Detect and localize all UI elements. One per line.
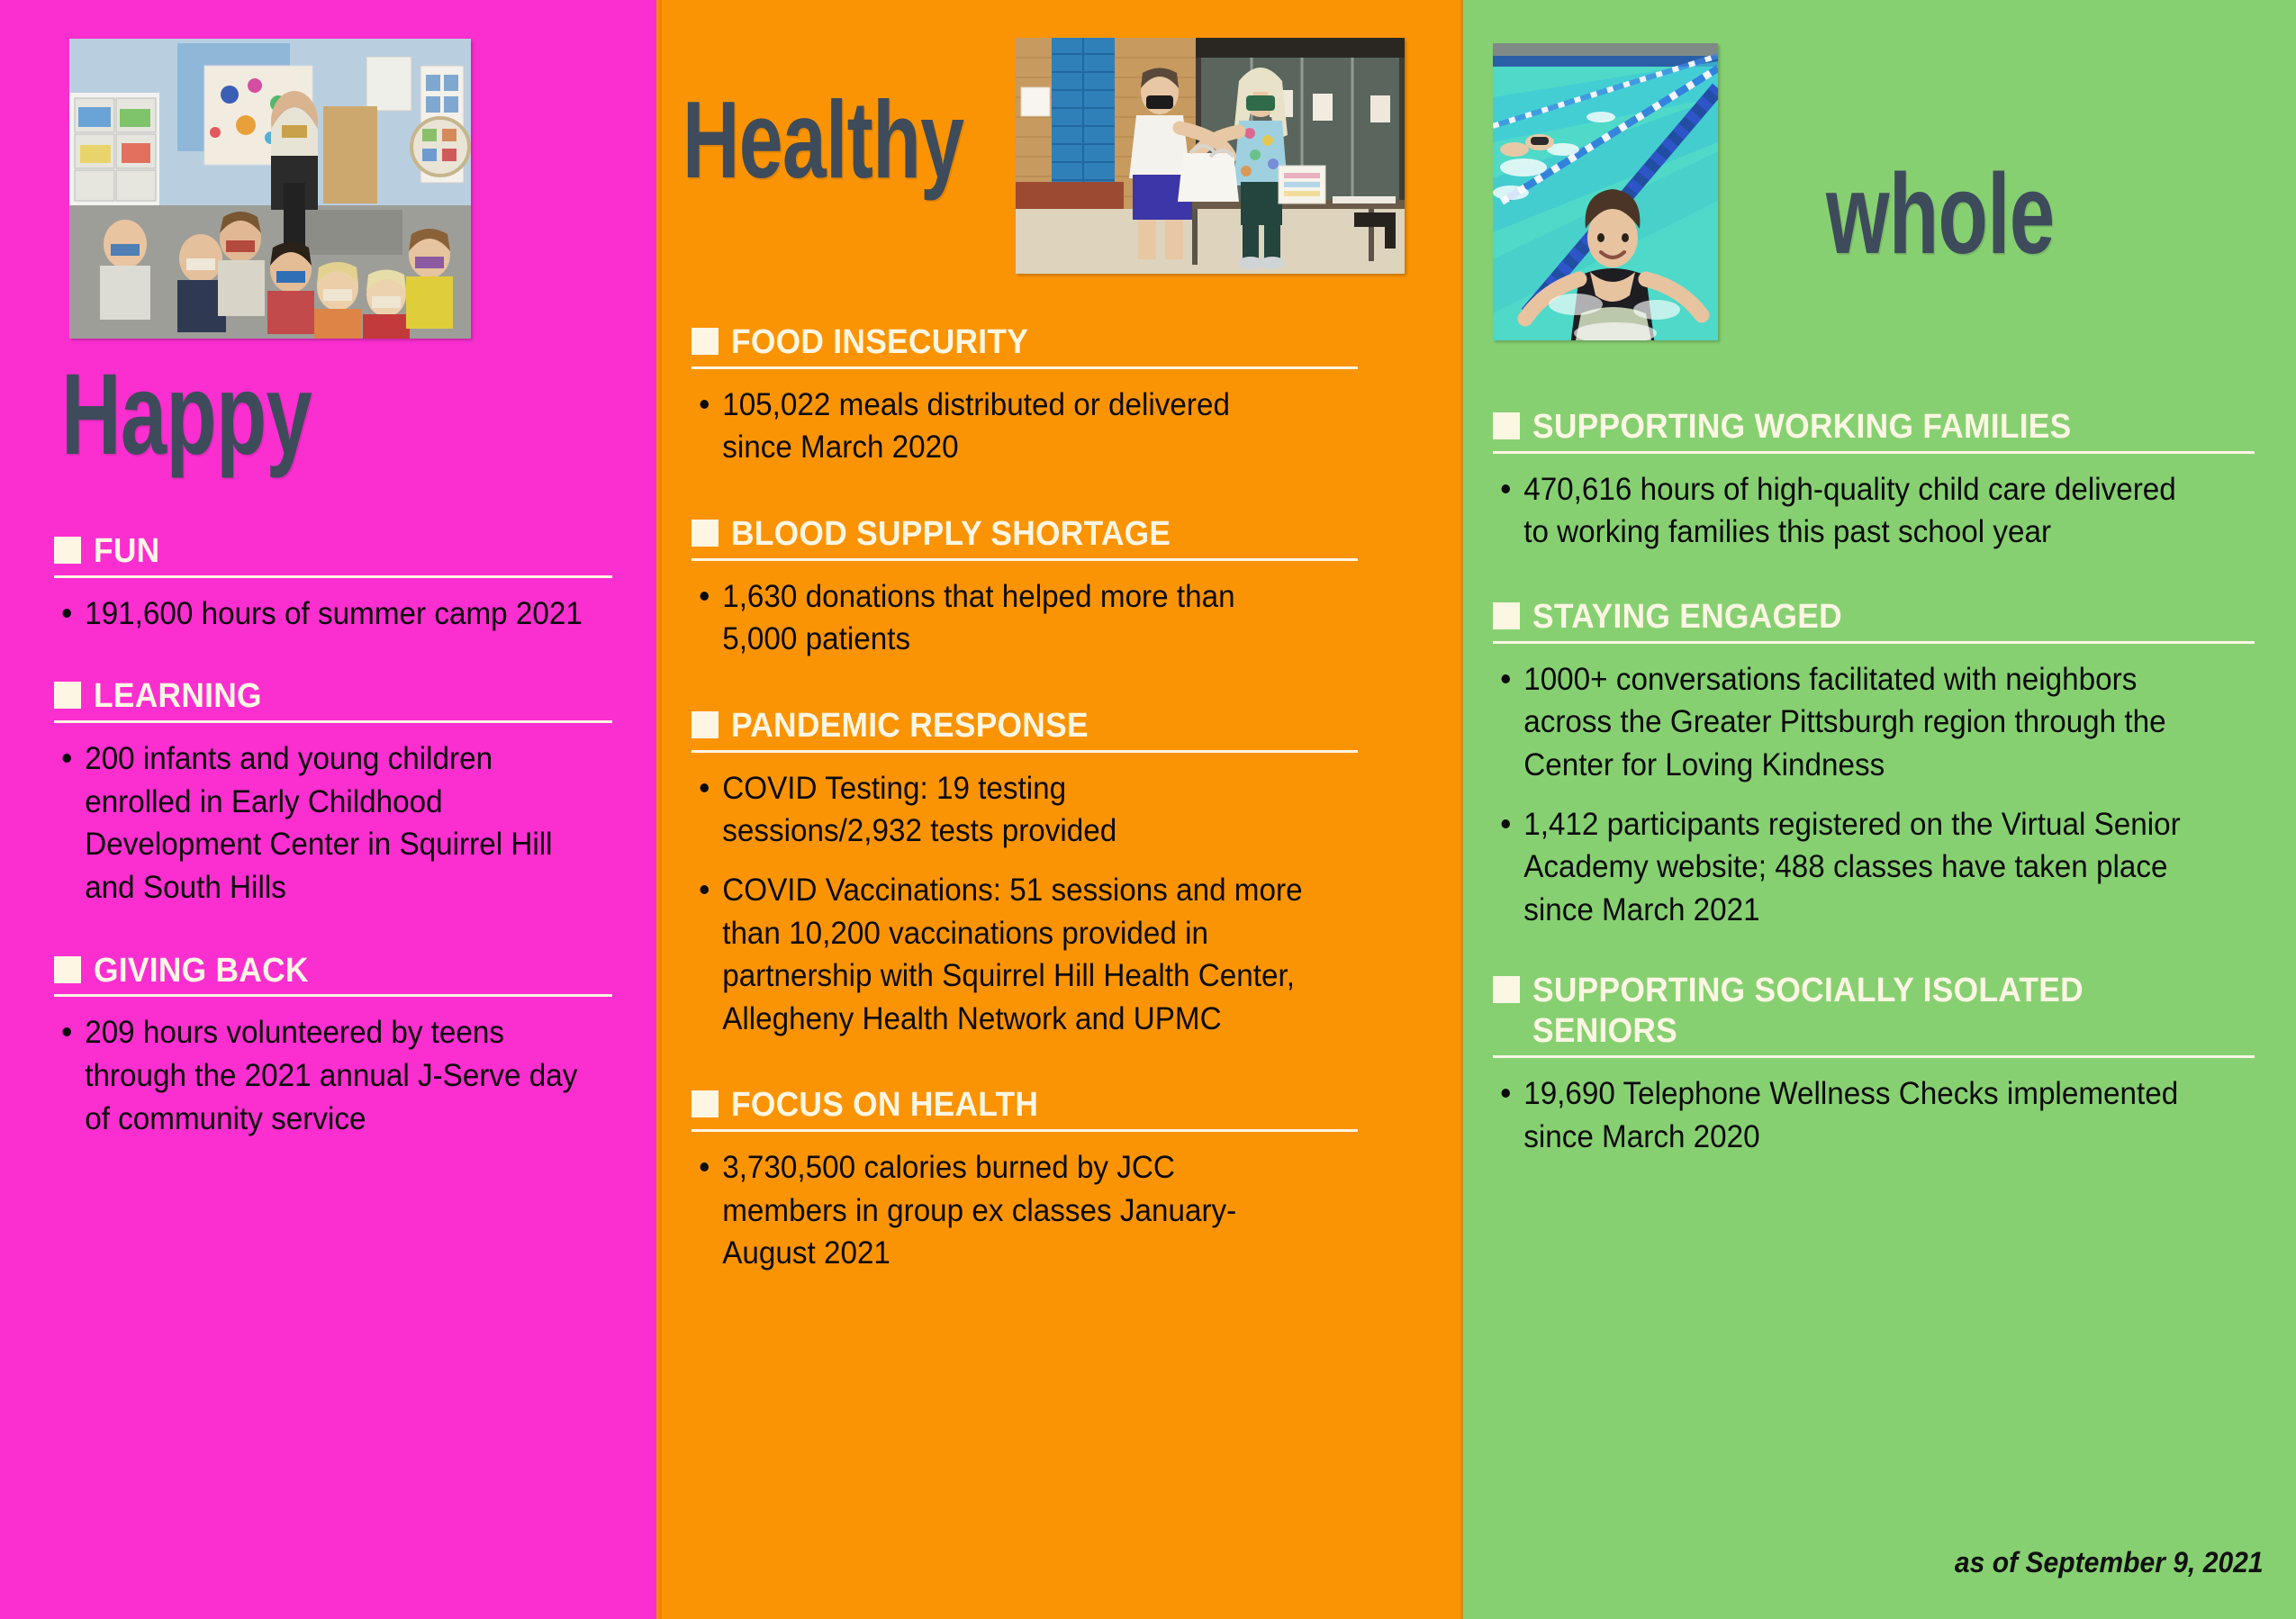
section-title: SUPPORTING WORKING FAMILIES: [1532, 407, 2072, 448]
section-title: BLOOD SUPPLY SHORTAGE: [731, 514, 1171, 555]
section-supporting-socially-isolated-seniors: SUPPORTING SOCIALLY ISOLATED SENIORS 19,…: [1493, 971, 2264, 1158]
bullet-list: 200 infants and young children enrolled …: [54, 737, 612, 909]
bullet-list: 19,690 Telephone Wellness Checks impleme…: [1493, 1072, 2264, 1158]
list-item: 105,022 meals distributed or delivered s…: [692, 384, 1235, 469]
section-title: STAYING ENGAGED: [1532, 597, 1842, 638]
section-header: LEARNING: [54, 676, 612, 717]
bullet-list: 1,630 donations that helped more than 5,…: [692, 575, 1394, 661]
section-title: GIVING BACK: [94, 951, 309, 991]
brand-word-healthy: Healthy: [682, 88, 963, 193]
list-item: 1000+ conversations facilitated with nei…: [1493, 658, 2183, 787]
bullet-square-icon: [54, 956, 81, 983]
section-rule: [1493, 1055, 2255, 1058]
bullet-list: 3,730,500 calories burned by JCC members…: [692, 1146, 1394, 1275]
section-rule: [692, 750, 1358, 753]
brand-word-happy: Happy: [61, 360, 312, 470]
section-header: GIVING BACK: [54, 951, 612, 991]
bullet-square-icon: [692, 711, 719, 738]
section-title: LEARNING: [94, 676, 262, 717]
bullet-square-icon: [1493, 976, 1520, 1003]
bullet-square-icon: [692, 328, 719, 355]
section-pandemic-response: PANDEMIC RESPONSE COVID Testing: 19 test…: [692, 706, 1394, 1040]
section-title: FUN: [94, 531, 159, 572]
brand-word-whole: whole: [1826, 160, 2054, 268]
column-happy: Happy FUN 191,600 hours of summer camp 2…: [0, 0, 659, 1619]
bullet-list: 1000+ conversations facilitated with nei…: [1493, 658, 2264, 932]
photo-food-distribution: [1016, 38, 1405, 274]
section-rule: [54, 994, 612, 997]
section-rule: [692, 366, 1358, 369]
section-focus-on-health: FOCUS ON HEALTH 3,730,500 calories burne…: [692, 1085, 1394, 1275]
list-item: 470,616 hours of high-quality child care…: [1493, 468, 2208, 554]
section-title: FOOD INSECURITY: [731, 322, 1028, 363]
list-item: 3,730,500 calories burned by JCC members…: [692, 1146, 1270, 1275]
sections-happy: FUN 191,600 hours of summer camp 2021 LE…: [54, 531, 612, 1167]
section-header: FUN: [54, 531, 612, 572]
section-giving-back: GIVING BACK 209 hours volunteered by tee…: [54, 951, 612, 1141]
as-of-date-note: as of September 9, 2021: [1955, 1546, 2264, 1579]
section-food-insecurity: FOOD INSECURITY 105,022 meals distribute…: [692, 322, 1394, 469]
section-header: STAYING ENGAGED: [1493, 597, 2264, 638]
photo-preschool-classroom-image: [69, 39, 471, 339]
bullet-square-icon: [54, 537, 81, 564]
sections-healthy: FOOD INSECURITY 105,022 meals distribute…: [692, 322, 1394, 1302]
section-title: PANDEMIC RESPONSE: [731, 706, 1089, 746]
bullet-square-icon: [1493, 412, 1520, 439]
photo-food-distribution-image: [1016, 38, 1405, 274]
section-rule: [54, 720, 612, 723]
bullet-list: 209 hours volunteered by teens through t…: [54, 1011, 612, 1140]
section-rule: [692, 558, 1358, 561]
section-header: SUPPORTING SOCIALLY ISOLATED SENIORS: [1493, 971, 2264, 1052]
column-healthy: Healthy: [659, 0, 1460, 1619]
list-item: COVID Vaccinations: 51 sessions and more…: [692, 869, 1321, 1040]
sections-whole: SUPPORTING WORKING FAMILIES 470,616 hour…: [1493, 407, 2264, 1185]
section-title: SUPPORTING SOCIALLY ISOLATED SENIORS: [1532, 971, 2119, 1052]
list-item: 1,630 donations that helped more than 5,…: [692, 575, 1287, 661]
section-rule: [1493, 451, 2255, 454]
bullet-list: COVID Testing: 19 testing sessions/2,932…: [692, 767, 1394, 1041]
bullet-list: 191,600 hours of summer camp 2021: [54, 592, 612, 636]
bullet-square-icon: [692, 520, 719, 547]
section-supporting-working-families: SUPPORTING WORKING FAMILIES 470,616 hour…: [1493, 407, 2264, 554]
section-header: FOOD INSECURITY: [692, 322, 1394, 363]
section-rule: [54, 575, 612, 578]
section-rule: [1493, 641, 2255, 644]
list-item: COVID Testing: 19 testing sessions/2,932…: [692, 767, 1235, 853]
section-header: PANDEMIC RESPONSE: [692, 706, 1394, 746]
section-fun: FUN 191,600 hours of summer camp 2021: [54, 531, 612, 635]
section-blood-supply-shortage: BLOOD SUPPLY SHORTAGE 1,630 donations th…: [692, 514, 1394, 661]
bullet-square-icon: [54, 682, 81, 709]
bullet-square-icon: [692, 1090, 719, 1117]
list-item: 209 hours volunteered by teens through t…: [54, 1011, 584, 1140]
section-learning: LEARNING 200 infants and young children …: [54, 676, 612, 909]
infographic-poster: Happy FUN 191,600 hours of summer camp 2…: [0, 0, 2296, 1619]
list-item: 19,690 Telephone Wellness Checks impleme…: [1493, 1072, 2183, 1158]
section-header: BLOOD SUPPLY SHORTAGE: [692, 514, 1394, 555]
photo-swimming-pool-image: [1493, 43, 1718, 340]
list-item: 1,412 participants registered on the Vir…: [1493, 803, 2217, 932]
section-header: SUPPORTING WORKING FAMILIES: [1493, 407, 2264, 448]
bullet-square-icon: [1493, 602, 1520, 629]
bullet-list: 470,616 hours of high-quality child care…: [1493, 468, 2264, 554]
column-whole: whole SUPPORTING WORKING FAMILIES 470,61…: [1460, 0, 2296, 1619]
section-staying-engaged: STAYING ENGAGED 1000+ conversations faci…: [1493, 597, 2264, 931]
section-header: FOCUS ON HEALTH: [692, 1085, 1394, 1126]
section-title: FOCUS ON HEALTH: [731, 1085, 1038, 1126]
photo-swimming-pool: [1493, 43, 1718, 340]
list-item: 200 infants and young children enrolled …: [54, 737, 584, 909]
bullet-list: 105,022 meals distributed or delivered s…: [692, 384, 1394, 469]
photo-preschool-classroom: [69, 39, 471, 339]
section-rule: [692, 1129, 1358, 1132]
list-item: 191,600 hours of summer camp 2021: [54, 592, 584, 636]
